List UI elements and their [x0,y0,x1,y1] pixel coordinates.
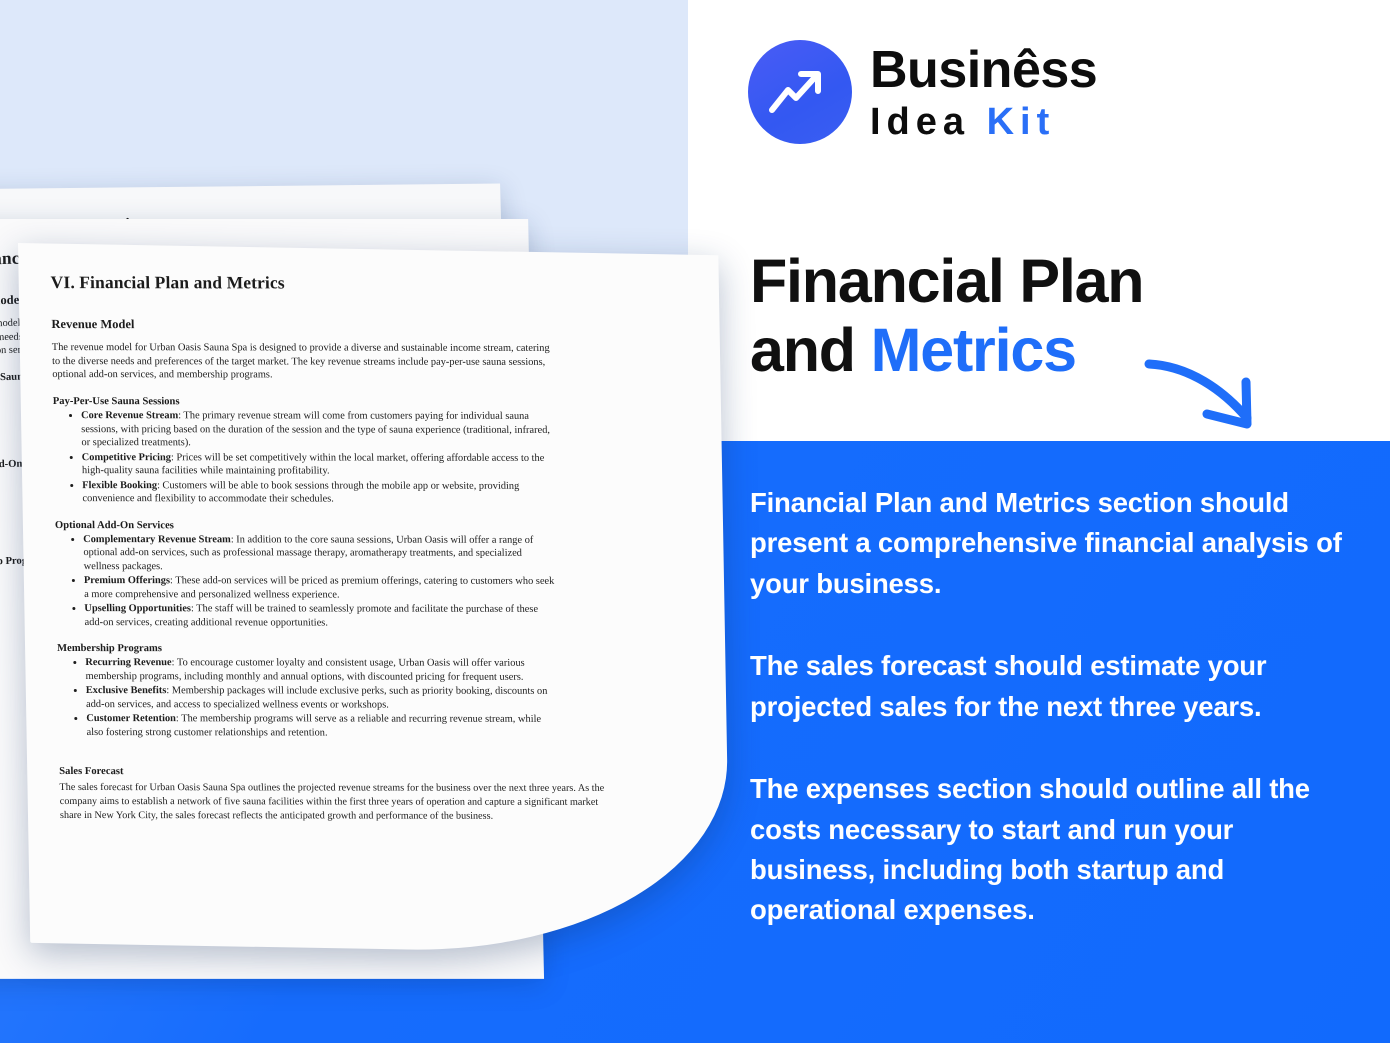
slide-canvas: VI. Financial Plan and Metrics Revenue M… [0,0,1390,1043]
brand-name-line2: Idea Kit [870,103,1097,141]
page-title-line1: Financial Plan [750,247,1310,316]
brand-wordmark: Businêss Idea Kit [870,44,1097,141]
page-title-and: and [750,316,871,384]
brand-name-line1: Businêss [870,44,1097,96]
background-panel-light-blue [0,0,688,441]
brand-name-kit: Kit [987,101,1056,143]
description-paragraph-3: The expenses section should outline all … [750,769,1350,931]
page-title-metrics: Metrics [871,316,1076,384]
brand-name-idea: Idea [870,101,970,143]
curved-arrow-down-right-icon [1143,352,1303,447]
description-copy: Financial Plan and Metrics section shoul… [750,483,1350,931]
description-paragraph-1: Financial Plan and Metrics section shoul… [750,483,1350,604]
description-paragraph-2: The sales forecast should estimate your … [750,646,1350,727]
trend-up-circle-icon [748,40,852,144]
brand-logo[interactable]: Businêss Idea Kit [748,40,1097,144]
